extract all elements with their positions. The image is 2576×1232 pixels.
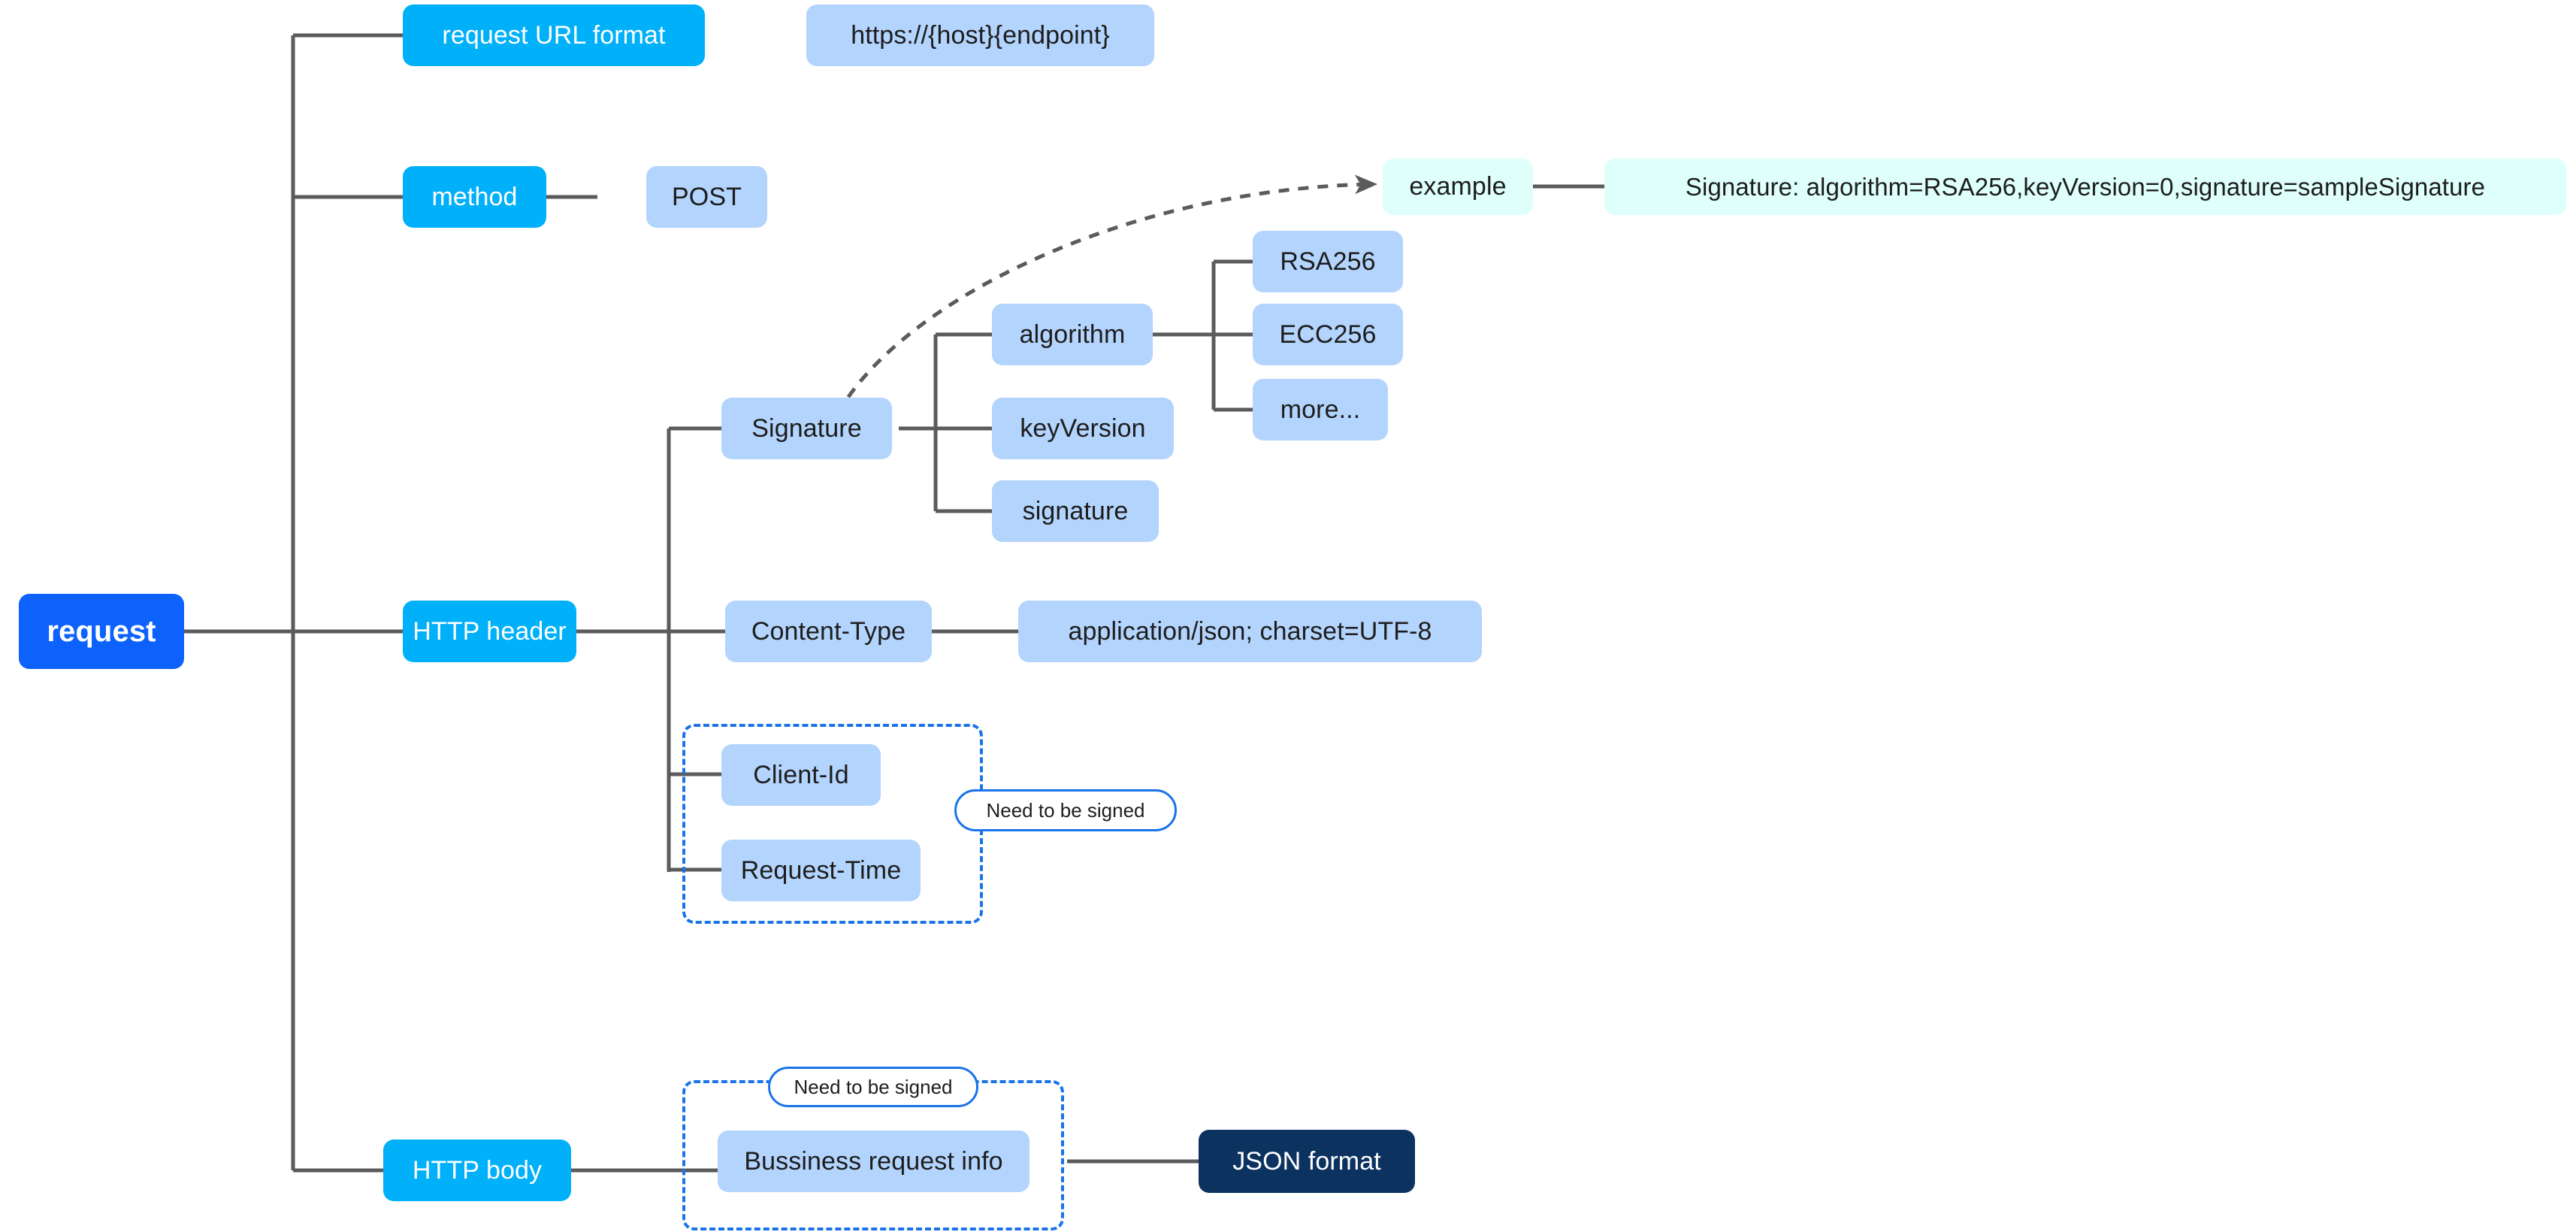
node-content-type[interactable]: Content-Type	[725, 601, 932, 662]
node-request-url-format-label: request URL format	[442, 21, 665, 50]
node-algorithm-rsa256[interactable]: RSA256	[1253, 231, 1403, 292]
node-method[interactable]: method	[403, 166, 546, 228]
node-algorithm-rsa256-label: RSA256	[1280, 247, 1375, 277]
node-signature-field[interactable]: signature	[992, 480, 1159, 542]
node-http-header[interactable]: HTTP header	[403, 601, 576, 662]
node-algorithm-more-label: more...	[1280, 395, 1361, 425]
node-http-body-label: HTTP body	[413, 1156, 542, 1185]
body-need-to-be-signed-label: Need to be signed	[794, 1076, 952, 1099]
node-method-value-label: POST	[672, 183, 742, 212]
node-client-id[interactable]: Client-Id	[721, 744, 881, 806]
node-example-value-label: Signature: algorithm=RSA256,keyVersion=0…	[1686, 173, 2485, 201]
mindmap-canvas: request request URL format https://{host…	[0, 0, 2576, 1232]
node-root[interactable]: request	[19, 594, 184, 669]
node-content-type-label: Content-Type	[751, 617, 906, 646]
node-example-label: example	[1409, 172, 1506, 201]
node-algorithm-ecc256[interactable]: ECC256	[1253, 304, 1403, 365]
header-need-to-be-signed-badge: Need to be signed	[954, 789, 1177, 831]
node-example[interactable]: example	[1383, 159, 1533, 215]
node-client-id-label: Client-Id	[753, 761, 849, 790]
header-need-to-be-signed-label: Need to be signed	[986, 799, 1144, 822]
node-method-value[interactable]: POST	[646, 166, 767, 228]
node-json-format[interactable]: JSON format	[1199, 1130, 1415, 1193]
node-http-body[interactable]: HTTP body	[383, 1140, 571, 1201]
node-http-header-label: HTTP header	[413, 617, 567, 646]
node-algorithm-ecc256-label: ECC256	[1279, 320, 1376, 350]
node-key-version[interactable]: keyVersion	[992, 398, 1174, 459]
node-root-label: request	[47, 615, 156, 649]
node-method-label: method	[431, 183, 517, 212]
node-example-value[interactable]: Signature: algorithm=RSA256,keyVersion=0…	[1604, 159, 2566, 215]
node-content-type-value-label: application/json; charset=UTF-8	[1068, 617, 1432, 646]
node-request-url-value[interactable]: https://{host}{endpoint}	[806, 5, 1154, 66]
body-need-to-be-signed-badge: Need to be signed	[768, 1067, 978, 1107]
node-content-type-value[interactable]: application/json; charset=UTF-8	[1018, 601, 1482, 662]
node-request-time[interactable]: Request-Time	[721, 840, 921, 901]
node-request-url-format[interactable]: request URL format	[403, 5, 705, 66]
node-request-time-label: Request-Time	[741, 856, 901, 885]
node-algorithm[interactable]: algorithm	[992, 304, 1153, 365]
node-key-version-label: keyVersion	[1020, 414, 1145, 443]
node-signature[interactable]: Signature	[721, 398, 892, 459]
node-business-request-info-label: Bussiness request info	[744, 1147, 1002, 1176]
node-algorithm-label: algorithm	[1020, 320, 1126, 350]
node-request-url-value-label: https://{host}{endpoint}	[851, 21, 1110, 50]
node-json-format-label: JSON format	[1232, 1147, 1381, 1176]
node-signature-field-label: signature	[1023, 497, 1129, 526]
node-business-request-info[interactable]: Bussiness request info	[718, 1131, 1029, 1192]
node-algorithm-more[interactable]: more...	[1253, 379, 1388, 440]
node-signature-label: Signature	[751, 414, 861, 443]
